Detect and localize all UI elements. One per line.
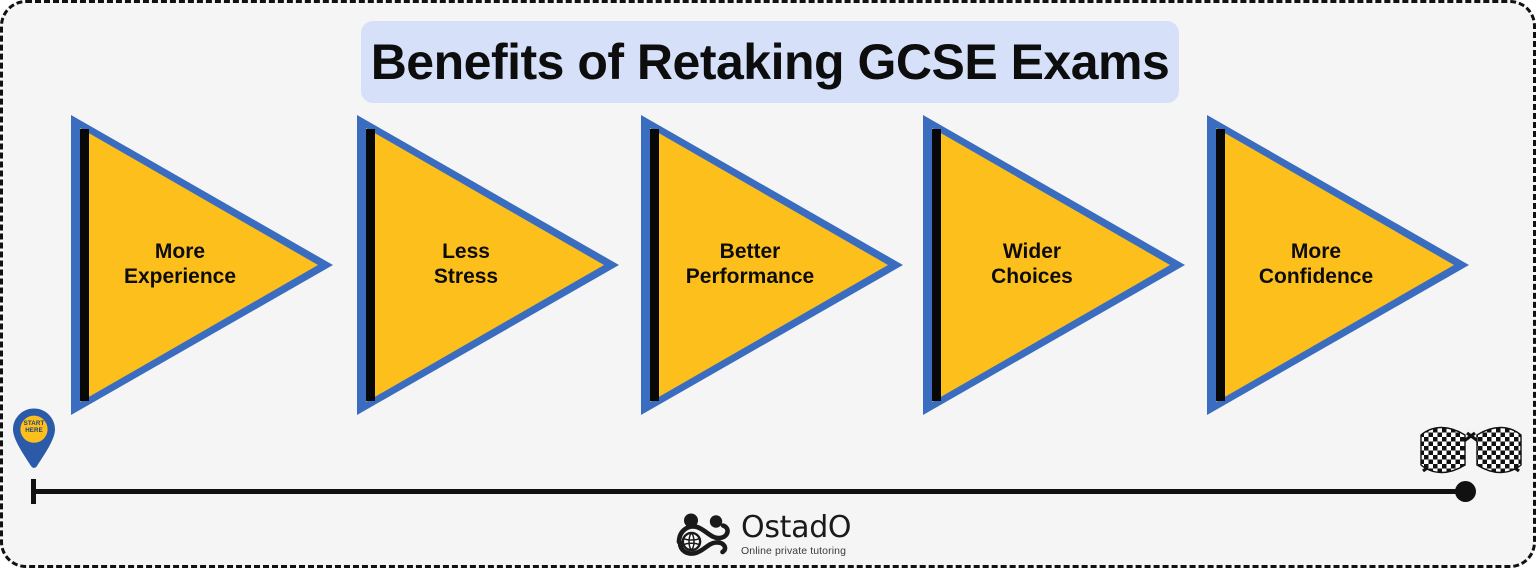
arrow-left-bar — [80, 129, 89, 401]
benefit-steps-row: More Experience Less Stress Better Perfo… — [3, 115, 1536, 419]
arrow-left-bar — [366, 129, 375, 401]
arrow-fill — [366, 128, 604, 402]
title-banner: Benefits of Retaking GCSE Exams — [361, 21, 1179, 103]
pin-badge — [20, 416, 47, 443]
brand-tagline: Online private tutoring — [741, 546, 851, 557]
arrow-fill — [650, 128, 888, 402]
checkered-flags-icon — [1415, 419, 1527, 481]
arrow-fill — [932, 128, 1170, 402]
benefit-step-1[interactable]: More Experience — [71, 115, 333, 415]
end-point-dot-icon — [1455, 481, 1476, 502]
start-here-marker[interactable]: START HERE — [11, 407, 57, 469]
arrow-left-bar — [1216, 129, 1225, 401]
arrow-left-bar — [932, 129, 941, 401]
benefit-step-3[interactable]: Better Performance — [641, 115, 903, 415]
arrow-left-bar — [650, 129, 659, 401]
arrow-fill — [1216, 128, 1454, 402]
map-pin-icon — [11, 407, 57, 469]
arrow-fill — [80, 128, 318, 402]
page-title: Benefits of Retaking GCSE Exams — [371, 37, 1170, 87]
benefit-step-5[interactable]: More Confidence — [1207, 115, 1469, 415]
infographic-canvas: Benefits of Retaking GCSE Exams More Exp… — [0, 0, 1536, 568]
ostado-infinity-logo-icon — [675, 512, 737, 556]
benefit-step-2[interactable]: Less Stress — [357, 115, 619, 415]
benefit-step-4[interactable]: Wider Choices — [923, 115, 1185, 415]
journey-track — [31, 489, 1467, 494]
brand-logo[interactable]: OstadO Online private tutoring — [675, 509, 871, 559]
brand-name: OstadO — [741, 513, 851, 543]
finish-marker — [1415, 419, 1527, 481]
brand-words: OstadO Online private tutoring — [741, 513, 851, 557]
